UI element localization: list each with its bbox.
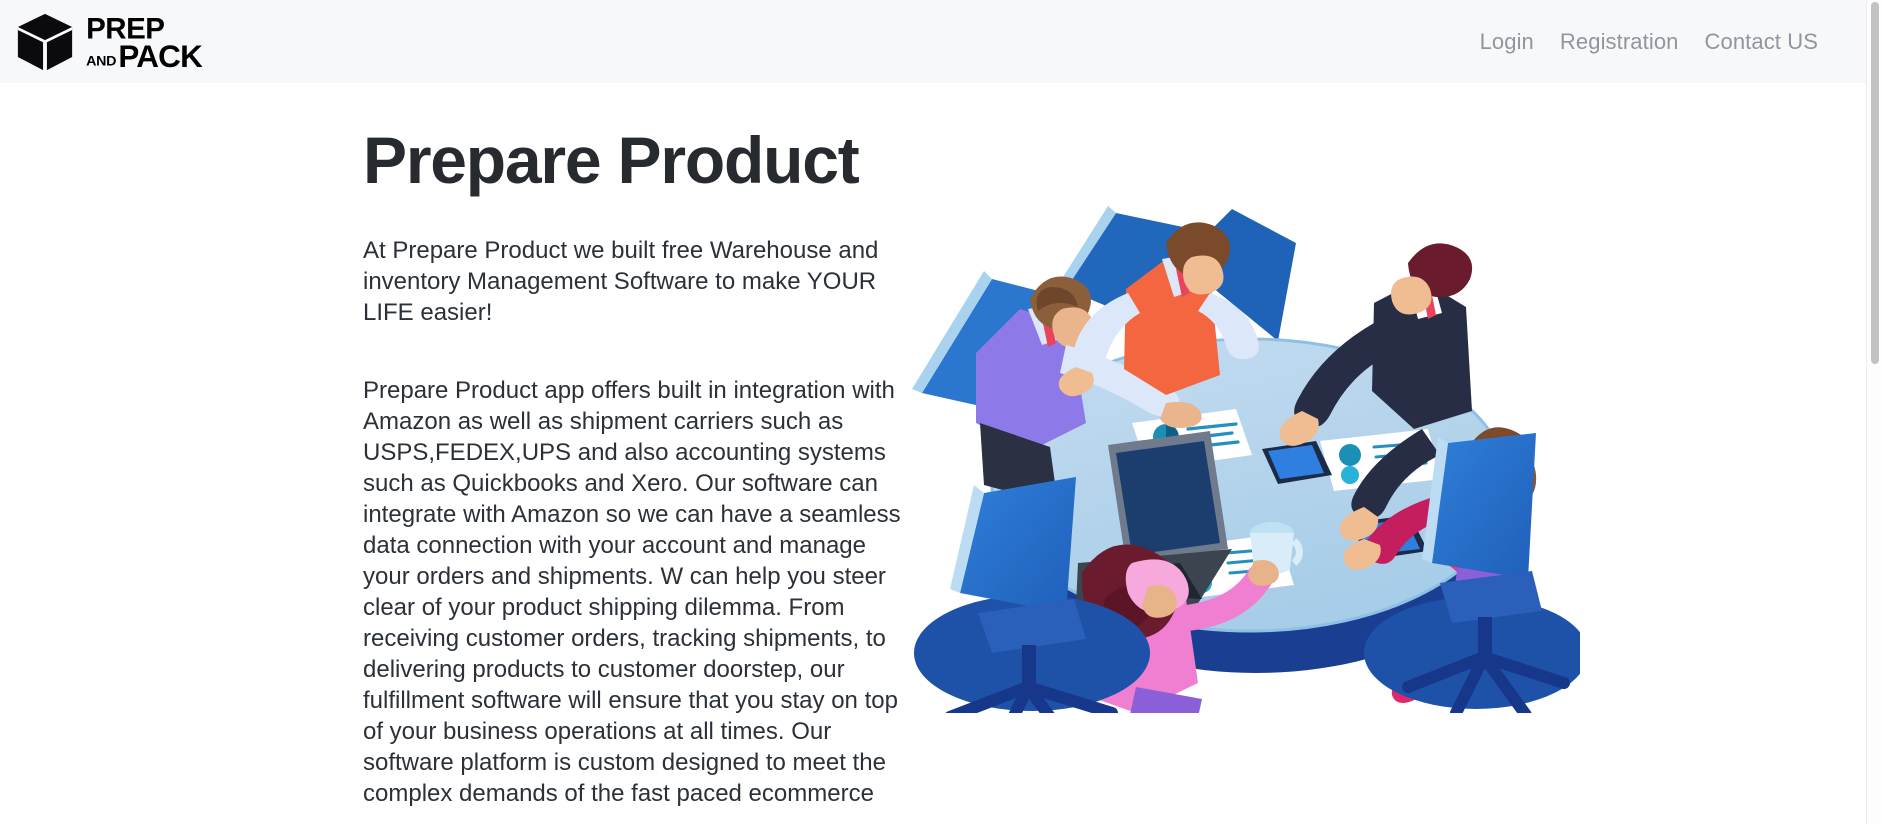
page-title: Prepare Product: [363, 125, 908, 196]
nav-link-login[interactable]: Login: [1480, 31, 1534, 53]
main-navigation: Login Registration Contact US: [1480, 31, 1818, 53]
nav-link-registration[interactable]: Registration: [1560, 31, 1679, 53]
hero-copy-block: Prepare Product At Prepare Product we bu…: [363, 125, 908, 809]
isometric-cube-logo-icon: [14, 11, 76, 73]
brand-wordmark: PREP AND PACK: [86, 11, 246, 72]
brand-logo-link[interactable]: PREP AND PACK: [14, 11, 246, 73]
hero-lead-paragraph: At Prepare Product we built free Warehou…: [363, 235, 908, 328]
page-root: PREP AND PACK Login Registration Contact…: [0, 0, 1881, 824]
hero-section: Prepare Product At Prepare Product we bu…: [0, 83, 1866, 824]
svg-text:PACK: PACK: [118, 39, 203, 72]
vertical-scrollbar-thumb[interactable]: [1871, 2, 1879, 364]
nav-link-contact-us[interactable]: Contact US: [1705, 31, 1819, 53]
site-header: PREP AND PACK Login Registration Contact…: [0, 0, 1866, 83]
vertical-scrollbar-track[interactable]: [1866, 0, 1881, 824]
hero-body-paragraph: Prepare Product app offers built in inte…: [363, 375, 908, 809]
business-team-meeting-illustration: [880, 93, 1580, 713]
svg-text:AND: AND: [86, 53, 116, 69]
